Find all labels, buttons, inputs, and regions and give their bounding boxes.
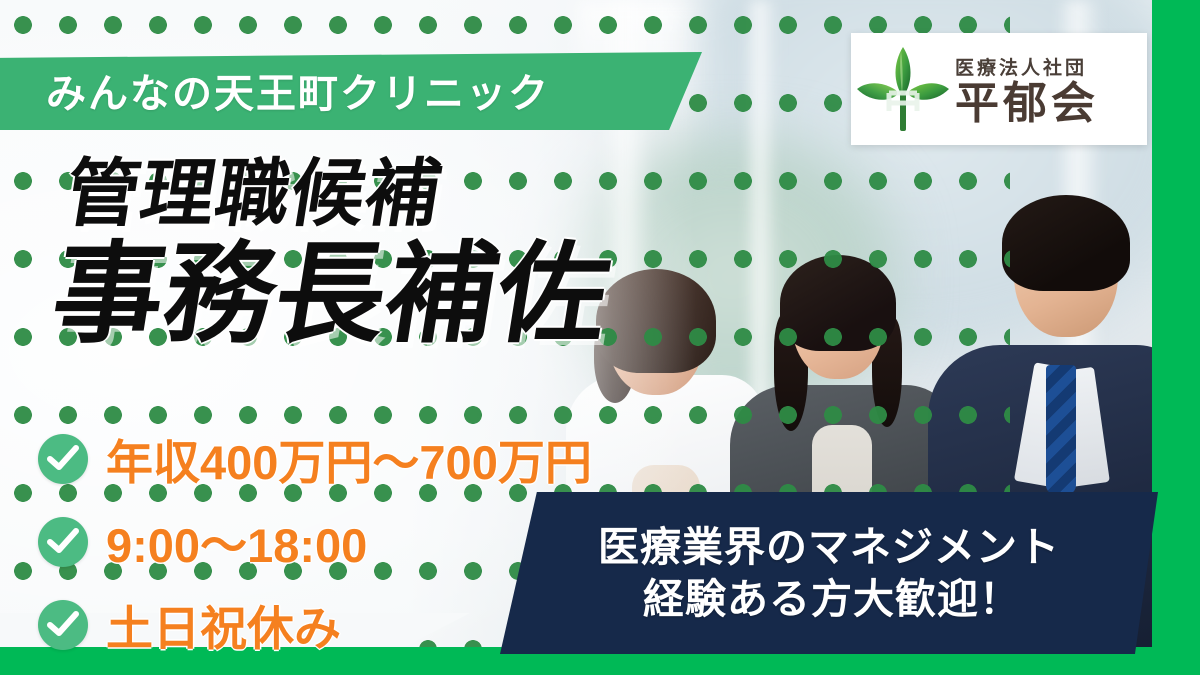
recruitment-banner: みんなの天王町クリニック: [0, 0, 1200, 675]
clinic-name-text: みんなの天王町クリニック: [46, 61, 550, 119]
right-green-band: [1152, 0, 1200, 675]
leaf-emblem-icon: [851, 33, 955, 145]
check-circle-icon: [38, 600, 88, 650]
check-circle-icon: [38, 434, 88, 484]
welcome-callout: 医療業界のマネジメント 経験ある方大歓迎！: [500, 492, 1158, 654]
condition-holidays-text: 土日祝休み: [106, 590, 341, 659]
condition-salary-text: 年収400万円～700万円: [106, 424, 592, 493]
headline-line-2: 事務長補佐: [45, 241, 617, 349]
callout-line-1: 医療業界のマネジメント: [598, 521, 1060, 573]
corporation-type-text: 医療法人社団: [955, 53, 1133, 80]
headline-line-1: 管理職候補: [60, 158, 614, 231]
job-title-headline: 管理職候補 事務長補佐: [54, 158, 609, 348]
corporate-logo-card: 医療法人社団 平郁会: [851, 33, 1147, 145]
clinic-name-banner: みんなの天王町クリニック: [0, 52, 702, 130]
list-item: 9:00～18:00: [38, 507, 592, 576]
callout-line-2: 経験ある方大歓迎！: [643, 573, 1021, 625]
condition-hours-text: 9:00～18:00: [106, 507, 367, 576]
corporation-name-text: 平郁会: [955, 82, 1133, 126]
list-item: 年収400万円～700万円: [38, 424, 592, 493]
check-circle-icon: [38, 517, 88, 567]
